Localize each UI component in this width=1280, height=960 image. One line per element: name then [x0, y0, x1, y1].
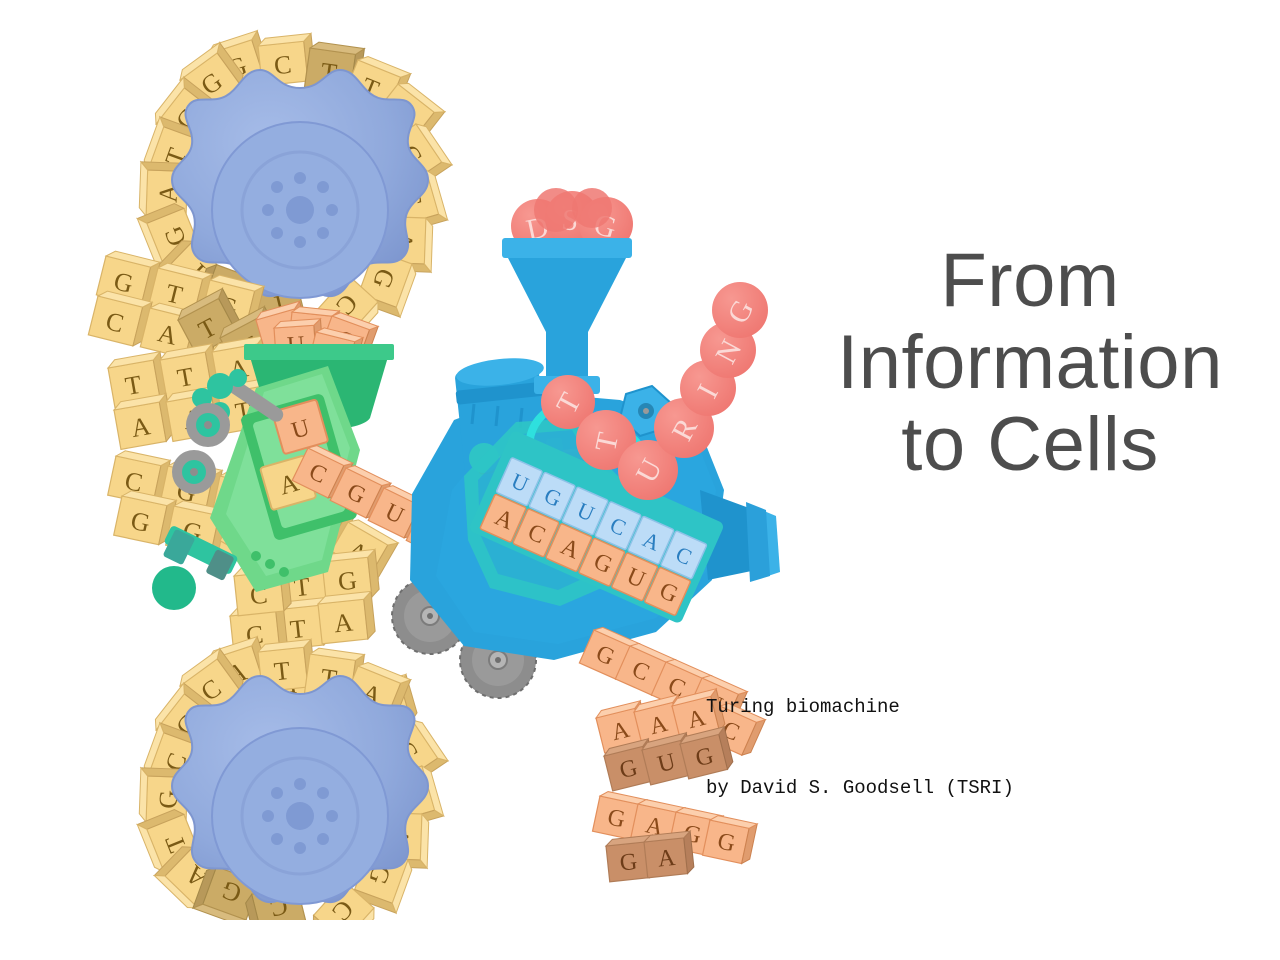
svg-text:T: T — [273, 656, 292, 687]
caption-line-2: by David S. Goodsell (TSRI) — [706, 775, 1014, 802]
svg-text:C: C — [273, 50, 293, 81]
image-credit-caption: Turing biomachine by David S. Goodsell (… — [706, 640, 1014, 856]
title-line-2: Information — [800, 322, 1260, 404]
protein-bead-G: G — [712, 282, 768, 338]
svg-text:A: A — [657, 845, 678, 873]
caption-line-1: Turing biomachine — [706, 694, 1014, 721]
slide-canvas: .dnaL{font-family:"Liberation Serif","De… — [0, 0, 1280, 960]
svg-text:A: A — [333, 608, 355, 639]
svg-text:G: G — [619, 849, 639, 877]
svg-text:G: G — [337, 566, 359, 597]
turing-biomachine-illustration: .dnaL{font-family:"Liberation Serif","De… — [60, 20, 780, 920]
page-title: From Information to Cells — [800, 240, 1260, 486]
title-line-1: From — [800, 240, 1260, 322]
dna-reel-bottom: A T T A C G G T C G A G T A C G C — [137, 637, 448, 920]
title-line-3: to Cells — [800, 404, 1260, 486]
